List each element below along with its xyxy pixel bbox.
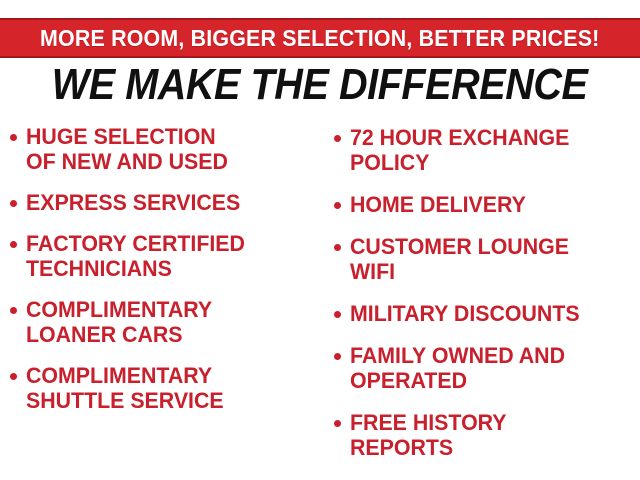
list-item: COMPLIMENTARY SHUTTLE SERVICE [10,363,322,413]
list-item-label: FREE HISTORY REPORTS [350,410,507,460]
list-item: CUSTOMER LOUNGE WIFI [334,234,640,284]
bullet-dot-icon [334,353,341,360]
bullet-dot-icon [10,134,17,141]
bullet-dot-icon [10,241,17,248]
list-item: COMPLIMENTARY LOANER CARS [10,297,322,347]
features-right-column: 72 HOUR EXCHANGE POLICY HOME DELIVERY CU… [322,118,640,477]
list-item-label: COMPLIMENTARY LOANER CARS [26,297,212,347]
list-item-label: MILITARY DISCOUNTS [350,301,580,326]
list-item-label: EXPRESS SERVICES [26,190,240,215]
list-item: FREE HISTORY REPORTS [334,410,640,460]
features-columns: HUGE SELECTION OF NEW AND USED EXPRESS S… [0,118,640,470]
list-item: MILITARY DISCOUNTS [334,301,640,326]
list-item: HOME DELIVERY [334,192,640,217]
bullet-dot-icon [10,373,17,380]
list-item: HUGE SELECTION OF NEW AND USED [10,124,322,174]
list-item-label: COMPLIMENTARY SHUTTLE SERVICE [26,363,224,413]
bullet-dot-icon [10,307,17,314]
headline-text: WE MAKE THE DIFFERENCE [52,63,588,107]
promo-banner: MORE ROOM, BIGGER SELECTION, BETTER PRIC… [0,18,640,58]
advertisement-banner: MORE ROOM, BIGGER SELECTION, BETTER PRIC… [0,0,640,480]
bullet-dot-icon [334,244,341,251]
promo-banner-text: MORE ROOM, BIGGER SELECTION, BETTER PRIC… [40,25,599,52]
list-item-label: HOME DELIVERY [350,192,526,217]
features-left-column: HUGE SELECTION OF NEW AND USED EXPRESS S… [0,118,322,429]
list-item: FAMILY OWNED AND OPERATED [334,343,640,393]
list-item-label: CUSTOMER LOUNGE WIFI [350,234,569,284]
bullet-dot-icon [334,311,341,318]
list-item-label: FAMILY OWNED AND OPERATED [350,343,565,393]
bullet-dot-icon [334,135,341,142]
list-item: FACTORY CERTIFIED TECHNICIANS [10,231,322,281]
list-item-label: HUGE SELECTION OF NEW AND USED [26,124,228,174]
list-item: 72 HOUR EXCHANGE POLICY [334,125,640,175]
headline: WE MAKE THE DIFFERENCE [0,62,640,108]
bullet-dot-icon [334,420,341,427]
list-item-label: FACTORY CERTIFIED TECHNICIANS [26,231,245,281]
bullet-dot-icon [334,202,341,209]
list-item: EXPRESS SERVICES [10,190,322,215]
bullet-dot-icon [10,200,17,207]
list-item-label: 72 HOUR EXCHANGE POLICY [350,125,569,175]
